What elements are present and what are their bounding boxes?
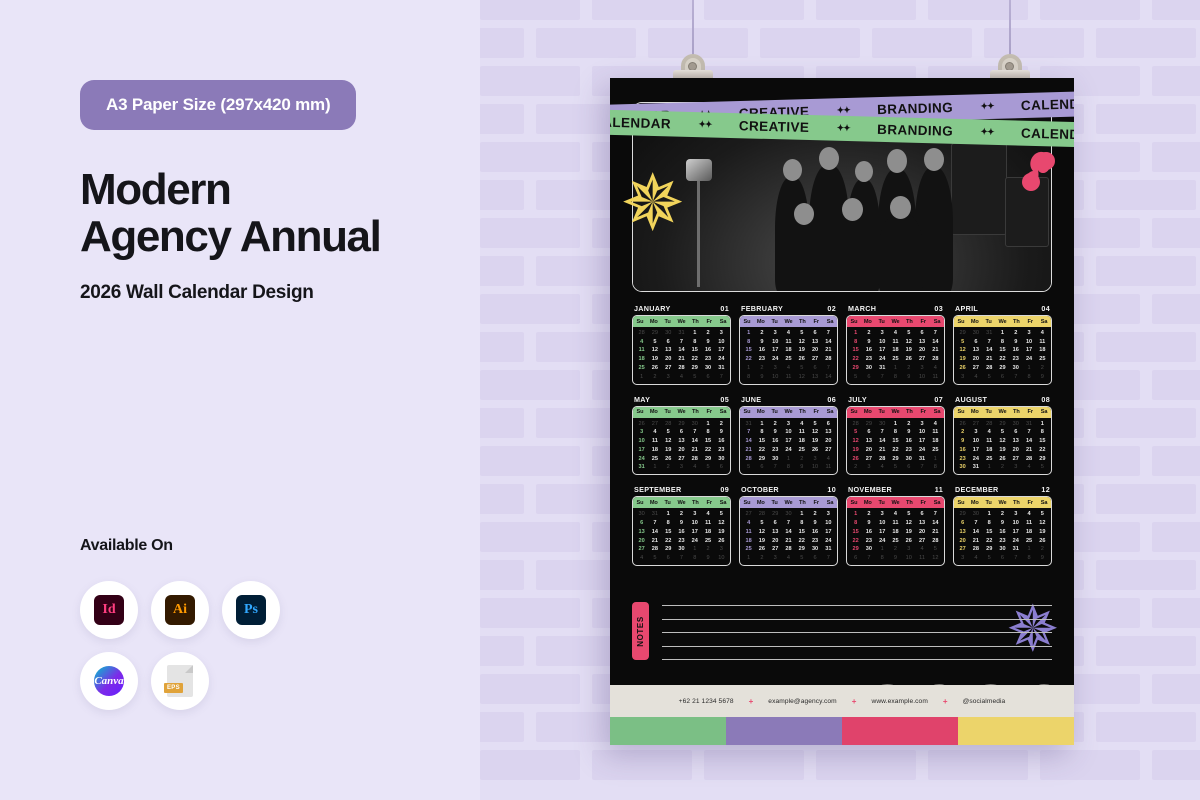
day-grid: 2627282930311234567891011121314151617181…: [954, 418, 1051, 475]
day-cell: 14: [876, 437, 889, 445]
day-cell: 12: [715, 519, 728, 527]
day-cell: 13: [635, 528, 648, 536]
day-cell: 5: [956, 338, 969, 346]
day-cell: 20: [1009, 446, 1022, 454]
day-cell: 30: [769, 455, 782, 463]
month-july[interactable]: JULY07SuMoTuWeThFrSa28293012345678910111…: [846, 395, 945, 476]
day-cell: 22: [889, 446, 902, 454]
day-cell: 8: [688, 338, 701, 346]
brick: [1152, 0, 1200, 20]
day-cell: 1: [635, 373, 648, 381]
color-block-1: [610, 717, 726, 745]
day-grid: 2627282930123456789101112131415161718192…: [633, 418, 730, 475]
day-cell: 18: [929, 437, 942, 445]
weekday-label: Tu: [768, 409, 782, 415]
day-cell: 29: [675, 420, 688, 428]
day-cell: 1: [742, 554, 755, 562]
weekday-label: We: [782, 319, 796, 325]
day-cell: 25: [1022, 537, 1035, 545]
weekday-label: Mo: [861, 319, 875, 325]
day-cell: 9: [1036, 373, 1049, 381]
day-cell: 23: [675, 537, 688, 545]
day-cell: 2: [808, 510, 821, 518]
day-cell: 4: [889, 329, 902, 337]
day-cell: 18: [648, 446, 661, 454]
tape-green-word-3: BRANDING: [877, 122, 953, 139]
day-cell: 30: [808, 545, 821, 553]
day-cell: 5: [755, 519, 768, 527]
day-cell: 7: [1009, 554, 1022, 562]
day-cell: 4: [742, 519, 755, 527]
day-cell: 15: [849, 528, 862, 536]
day-cell: 30: [701, 364, 714, 372]
weekday-header: SuMoTuWeThFrSa: [740, 497, 837, 508]
day-cell: 16: [956, 446, 969, 454]
weekday-label: Sa: [1037, 500, 1051, 506]
day-cell: 6: [822, 420, 835, 428]
weekday-label: Mo: [968, 409, 982, 415]
weekday-label: Th: [795, 319, 809, 325]
day-cell: 8: [1036, 428, 1049, 436]
month-name: JULY: [848, 395, 867, 404]
team-member-head: [924, 148, 944, 171]
day-cell: 24: [782, 446, 795, 454]
sparkle-icon: ✦✦: [980, 101, 993, 112]
day-cell: 8: [876, 554, 889, 562]
eps-label: EPS: [164, 683, 183, 693]
day-cell: 9: [769, 428, 782, 436]
brick: [1096, 636, 1196, 666]
squiggle-pink-icon: [1018, 146, 1058, 196]
brick: [1152, 446, 1200, 476]
day-cell: 27: [662, 364, 675, 372]
day-cell: 26: [715, 537, 728, 545]
brick: [480, 28, 524, 58]
day-cell: 5: [902, 329, 915, 337]
day-cell: 21: [782, 537, 795, 545]
month-name: JUNE: [741, 395, 761, 404]
day-cell: 3: [915, 420, 928, 428]
notes-tab: NOTES: [632, 602, 649, 660]
month-march[interactable]: MARCH03SuMoTuWeThFrSa1234567891011121314…: [846, 304, 945, 385]
team-member-head: [819, 147, 839, 170]
day-cell: 11: [1036, 338, 1049, 346]
weekday-label: Tu: [875, 409, 889, 415]
weekday-label: We: [996, 500, 1010, 506]
day-cell: 2: [795, 455, 808, 463]
weekday-label: Mo: [861, 500, 875, 506]
brick: [816, 0, 916, 20]
month-card: SuMoTuWeThFrSa30311234567891011121314151…: [632, 496, 731, 566]
brick: [480, 218, 580, 248]
day-cell: 4: [915, 545, 928, 553]
day-cell: 15: [795, 528, 808, 536]
weekday-header: SuMoTuWeThFrSa: [740, 316, 837, 327]
team-member-head: [890, 196, 911, 219]
day-cell: 3: [876, 329, 889, 337]
starburst-yellow-icon: ✵: [620, 182, 676, 238]
day-cell: 30: [782, 510, 795, 518]
weekday-label: Mo: [754, 500, 768, 506]
weekday-label: Su: [633, 319, 647, 325]
day-cell: 6: [662, 554, 675, 562]
weekday-label: Sa: [1037, 409, 1051, 415]
day-cell: 11: [648, 437, 661, 445]
month-name: SEPTEMBER: [634, 485, 681, 494]
month-card: SuMoTuWeThFrSa12345678910111213141516171…: [739, 315, 838, 385]
day-cell: 28: [648, 545, 661, 553]
day-cell: 6: [969, 338, 982, 346]
day-cell: 10: [715, 554, 728, 562]
day-cell: 22: [983, 537, 996, 545]
day-cell: 6: [1009, 428, 1022, 436]
day-cell: 1: [742, 364, 755, 372]
month-header: SEPTEMBER09: [632, 485, 731, 496]
month-may[interactable]: MAY05SuMoTuWeThFrSa262728293012345678910…: [632, 395, 731, 476]
day-cell: 16: [755, 346, 768, 354]
weekday-label: We: [675, 409, 689, 415]
day-cell: 19: [996, 446, 1009, 454]
day-cell: 25: [648, 455, 661, 463]
day-cell: 16: [715, 437, 728, 445]
day-cell: 28: [742, 455, 755, 463]
month-name: AUGUST: [955, 395, 987, 404]
day-cell: 19: [795, 346, 808, 354]
month-june[interactable]: JUNE06SuMoTuWeThFrSa31123456789101112131…: [739, 395, 838, 476]
day-cell: 5: [795, 329, 808, 337]
day-cell: 26: [849, 455, 862, 463]
app-icon-photoshop[interactable]: Ps: [222, 581, 280, 639]
calendar-poster[interactable]: CALENDAR ✦✦ CREATIVE ✦✦ BRANDING ✦✦ CALE…: [610, 78, 1074, 745]
day-cell: 15: [688, 346, 701, 354]
month-september[interactable]: SEPTEMBER09SuMoTuWeThFrSa303112345678910…: [632, 485, 731, 566]
day-cell: 12: [902, 338, 915, 346]
day-cell: 10: [876, 338, 889, 346]
brick: [480, 0, 580, 20]
day-cell: 10: [915, 373, 928, 381]
month-january[interactable]: JANUARY01SuMoTuWeThFrSa28293031123456789…: [632, 304, 731, 385]
day-cell: 3: [769, 329, 782, 337]
day-cell: 4: [969, 554, 982, 562]
day-cell: 11: [701, 519, 714, 527]
day-cell: 6: [956, 519, 969, 527]
day-cell: 26: [902, 537, 915, 545]
month-name: FEBRUARY: [741, 304, 783, 313]
weekday-label: Th: [1009, 409, 1023, 415]
month-december[interactable]: DECEMBER12SuMoTuWeThFrSa2930123456789101…: [953, 485, 1052, 566]
month-name: OCTOBER: [741, 485, 779, 494]
day-cell: 11: [929, 373, 942, 381]
day-cell: 4: [675, 373, 688, 381]
day-cell: 23: [701, 355, 714, 363]
weekday-label: Sa: [823, 409, 837, 415]
day-cell: 15: [849, 346, 862, 354]
day-cell: 7: [929, 510, 942, 518]
day-cell: 24: [876, 355, 889, 363]
day-cell: 19: [849, 446, 862, 454]
day-cell: 31: [715, 364, 728, 372]
day-cell: 2: [956, 428, 969, 436]
sparkle-icon: ✦✦: [837, 123, 850, 134]
day-cell: 4: [648, 428, 661, 436]
day-cell: 17: [822, 528, 835, 536]
day-cell: 24: [715, 355, 728, 363]
day-cell: 4: [822, 455, 835, 463]
day-cell: 17: [969, 446, 982, 454]
day-cell: 7: [915, 463, 928, 471]
day-cell: 9: [902, 373, 915, 381]
day-cell: 29: [862, 420, 875, 428]
day-cell: 3: [876, 510, 889, 518]
day-cell: 15: [1036, 437, 1049, 445]
weekday-header: SuMoTuWeThFrSa: [847, 407, 944, 418]
month-grid-container: JANUARY01SuMoTuWeThFrSa28293031123456789…: [632, 304, 1052, 566]
day-cell: 9: [889, 554, 902, 562]
weekday-label: Su: [633, 500, 647, 506]
weekday-label: Sa: [930, 409, 944, 415]
day-cell: 7: [675, 338, 688, 346]
day-cell: 25: [635, 364, 648, 372]
weekday-label: Sa: [930, 319, 944, 325]
notes-lines[interactable]: [662, 605, 1052, 673]
app-icon-canva[interactable]: Canva: [80, 652, 138, 710]
day-cell: 14: [983, 346, 996, 354]
day-cell: 27: [675, 455, 688, 463]
app-icon-eps[interactable]: EPS: [151, 652, 209, 710]
brick: [480, 370, 580, 400]
brick: [704, 750, 804, 780]
day-cell: 18: [701, 528, 714, 536]
day-cell: 19: [755, 537, 768, 545]
day-cell: 1: [648, 463, 661, 471]
day-cell: 4: [688, 463, 701, 471]
day-cell: 8: [849, 519, 862, 527]
weekday-label: Th: [795, 500, 809, 506]
month-august[interactable]: AUGUST08SuMoTuWeThFrSa262728293031123456…: [953, 395, 1052, 476]
day-cell: 4: [795, 420, 808, 428]
month-header: AUGUST08: [953, 395, 1052, 406]
day-cell: 27: [915, 537, 928, 545]
day-cell: 28: [983, 364, 996, 372]
weekday-label: Fr: [916, 500, 930, 506]
weekday-label: Fr: [702, 500, 716, 506]
day-cell: 5: [648, 338, 661, 346]
month-number: 03: [934, 304, 943, 313]
day-cell: 10: [769, 373, 782, 381]
day-cell: 24: [635, 455, 648, 463]
day-cell: 20: [969, 355, 982, 363]
day-cell: 16: [701, 346, 714, 354]
day-cell: 11: [915, 554, 928, 562]
brick: [480, 598, 580, 628]
day-cell: 19: [808, 437, 821, 445]
day-cell: 31: [1009, 545, 1022, 553]
day-cell: 16: [808, 528, 821, 536]
day-cell: 14: [822, 373, 835, 381]
day-cell: 14: [782, 528, 795, 536]
weekday-label: Mo: [968, 500, 982, 506]
weekday-label: Th: [902, 500, 916, 506]
weekday-label: Su: [847, 409, 861, 415]
month-february[interactable]: FEBRUARY02SuMoTuWeThFrSa1234567891011121…: [739, 304, 838, 385]
day-cell: 16: [769, 437, 782, 445]
day-cell: 30: [956, 463, 969, 471]
day-cell: 22: [688, 355, 701, 363]
day-cell: 31: [635, 463, 648, 471]
day-cell: 25: [983, 455, 996, 463]
contact-footer: +62 21 1234 5678 + example@agency.com + …: [610, 685, 1074, 717]
day-cell: 26: [755, 545, 768, 553]
month-number: 09: [720, 485, 729, 494]
day-cell: 23: [1009, 355, 1022, 363]
day-cell: 23: [902, 446, 915, 454]
app-icon-indesign[interactable]: Id: [80, 581, 138, 639]
brick: [704, 0, 804, 20]
day-cell: 26: [795, 355, 808, 363]
day-cell: 21: [929, 346, 942, 354]
day-cell: 7: [688, 428, 701, 436]
day-cell: 22: [849, 355, 862, 363]
month-april[interactable]: APRIL04SuMoTuWeThFrSa2930311234567891011…: [953, 304, 1052, 385]
day-cell: 7: [769, 463, 782, 471]
weekday-label: Sa: [1037, 319, 1051, 325]
contact-website: www.example.com: [871, 698, 927, 705]
available-on-label: Available On: [80, 537, 173, 555]
weekday-header: SuMoTuWeThFrSa: [954, 497, 1051, 508]
notes-section: NOTES: [632, 602, 1052, 664]
day-cell: 8: [889, 428, 902, 436]
day-cell: 8: [782, 463, 795, 471]
day-cell: 4: [889, 510, 902, 518]
brick: [1040, 0, 1140, 20]
paper-size-badge: A3 Paper Size (297x420 mm): [80, 80, 356, 130]
contact-social: @socialmedia: [963, 698, 1006, 705]
day-cell: 17: [915, 437, 928, 445]
day-cell: 1: [996, 329, 1009, 337]
day-cell: 8: [662, 519, 675, 527]
day-cell: 6: [755, 463, 768, 471]
day-cell: 12: [929, 554, 942, 562]
day-cell: 21: [876, 446, 889, 454]
day-cell: 4: [929, 420, 942, 428]
day-cell: 16: [862, 346, 875, 354]
month-header: FEBRUARY02: [739, 304, 838, 315]
day-cell: 1: [1022, 545, 1035, 553]
month-header: JANUARY01: [632, 304, 731, 315]
footer-color-bar: [610, 717, 1074, 745]
day-cell: 8: [983, 519, 996, 527]
day-cell: 4: [969, 373, 982, 381]
month-name: NOVEMBER: [848, 485, 892, 494]
day-cell: 14: [648, 528, 661, 536]
day-cell: 11: [822, 463, 835, 471]
brick: [1152, 370, 1200, 400]
brick: [1152, 142, 1200, 172]
day-cell: 7: [782, 519, 795, 527]
day-cell: 9: [675, 519, 688, 527]
day-cell: 4: [983, 428, 996, 436]
day-cell: 30: [635, 510, 648, 518]
weekday-label: Tu: [661, 319, 675, 325]
weekday-label: Th: [688, 319, 702, 325]
month-header: OCTOBER10: [739, 485, 838, 496]
day-cell: 5: [996, 428, 1009, 436]
day-cell: 8: [1022, 373, 1035, 381]
day-cell: 21: [983, 355, 996, 363]
day-cell: 7: [675, 554, 688, 562]
day-cell: 12: [662, 437, 675, 445]
day-cell: 12: [795, 338, 808, 346]
day-cell: 26: [956, 364, 969, 372]
day-cell: 28: [969, 545, 982, 553]
day-cell: 3: [782, 420, 795, 428]
month-number: 07: [934, 395, 943, 404]
brick: [872, 28, 972, 58]
day-cell: 11: [1022, 519, 1035, 527]
title-line-1: Modern: [80, 166, 480, 213]
day-cell: 13: [769, 528, 782, 536]
day-cell: 30: [662, 329, 675, 337]
day-cell: 25: [929, 446, 942, 454]
day-cell: 6: [915, 329, 928, 337]
month-header: MARCH03: [846, 304, 945, 315]
app-icon-illustrator[interactable]: Ai: [151, 581, 209, 639]
month-october[interactable]: OCTOBER10SuMoTuWeThFrSa27282930123456789…: [739, 485, 838, 566]
day-cell: 4: [701, 510, 714, 518]
day-cell: 11: [929, 428, 942, 436]
day-cell: 15: [755, 437, 768, 445]
day-cell: 26: [902, 355, 915, 363]
month-card: SuMoTuWeThFrSa27282930123456789101112131…: [739, 496, 838, 566]
day-cell: 29: [648, 329, 661, 337]
day-cell: 29: [956, 510, 969, 518]
day-cell: 1: [662, 510, 675, 518]
day-cell: 14: [675, 346, 688, 354]
day-cell: 3: [1009, 510, 1022, 518]
month-november[interactable]: NOVEMBER11SuMoTuWeThFrSa1234567891011121…: [846, 485, 945, 566]
day-cell: 26: [956, 420, 969, 428]
day-cell: 8: [742, 338, 755, 346]
day-cell: 2: [755, 329, 768, 337]
day-cell: 3: [1022, 329, 1035, 337]
day-cell: 10: [915, 428, 928, 436]
weekday-label: Su: [633, 409, 647, 415]
eps-file-icon: EPS: [167, 665, 193, 697]
day-cell: 1: [849, 510, 862, 518]
day-cell: 28: [983, 420, 996, 428]
day-cell: 19: [902, 346, 915, 354]
day-cell: 23: [862, 355, 875, 363]
day-cell: 3: [915, 364, 928, 372]
day-cell: 20: [769, 537, 782, 545]
day-cell: 12: [956, 346, 969, 354]
day-cell: 22: [755, 446, 768, 454]
day-cell: 27: [648, 420, 661, 428]
brick: [1096, 180, 1196, 210]
month-number: 05: [720, 395, 729, 404]
day-cell: 22: [996, 355, 1009, 363]
day-cell: 15: [742, 346, 755, 354]
contact-email: example@agency.com: [768, 698, 836, 705]
day-cell: 30: [862, 364, 875, 372]
day-cell: 10: [1009, 519, 1022, 527]
day-cell: 28: [822, 355, 835, 363]
day-cell: 7: [822, 364, 835, 372]
day-cell: 12: [755, 528, 768, 536]
day-cell: 13: [956, 528, 969, 536]
month-header: JUNE06: [739, 395, 838, 406]
team-member-head: [887, 149, 907, 173]
